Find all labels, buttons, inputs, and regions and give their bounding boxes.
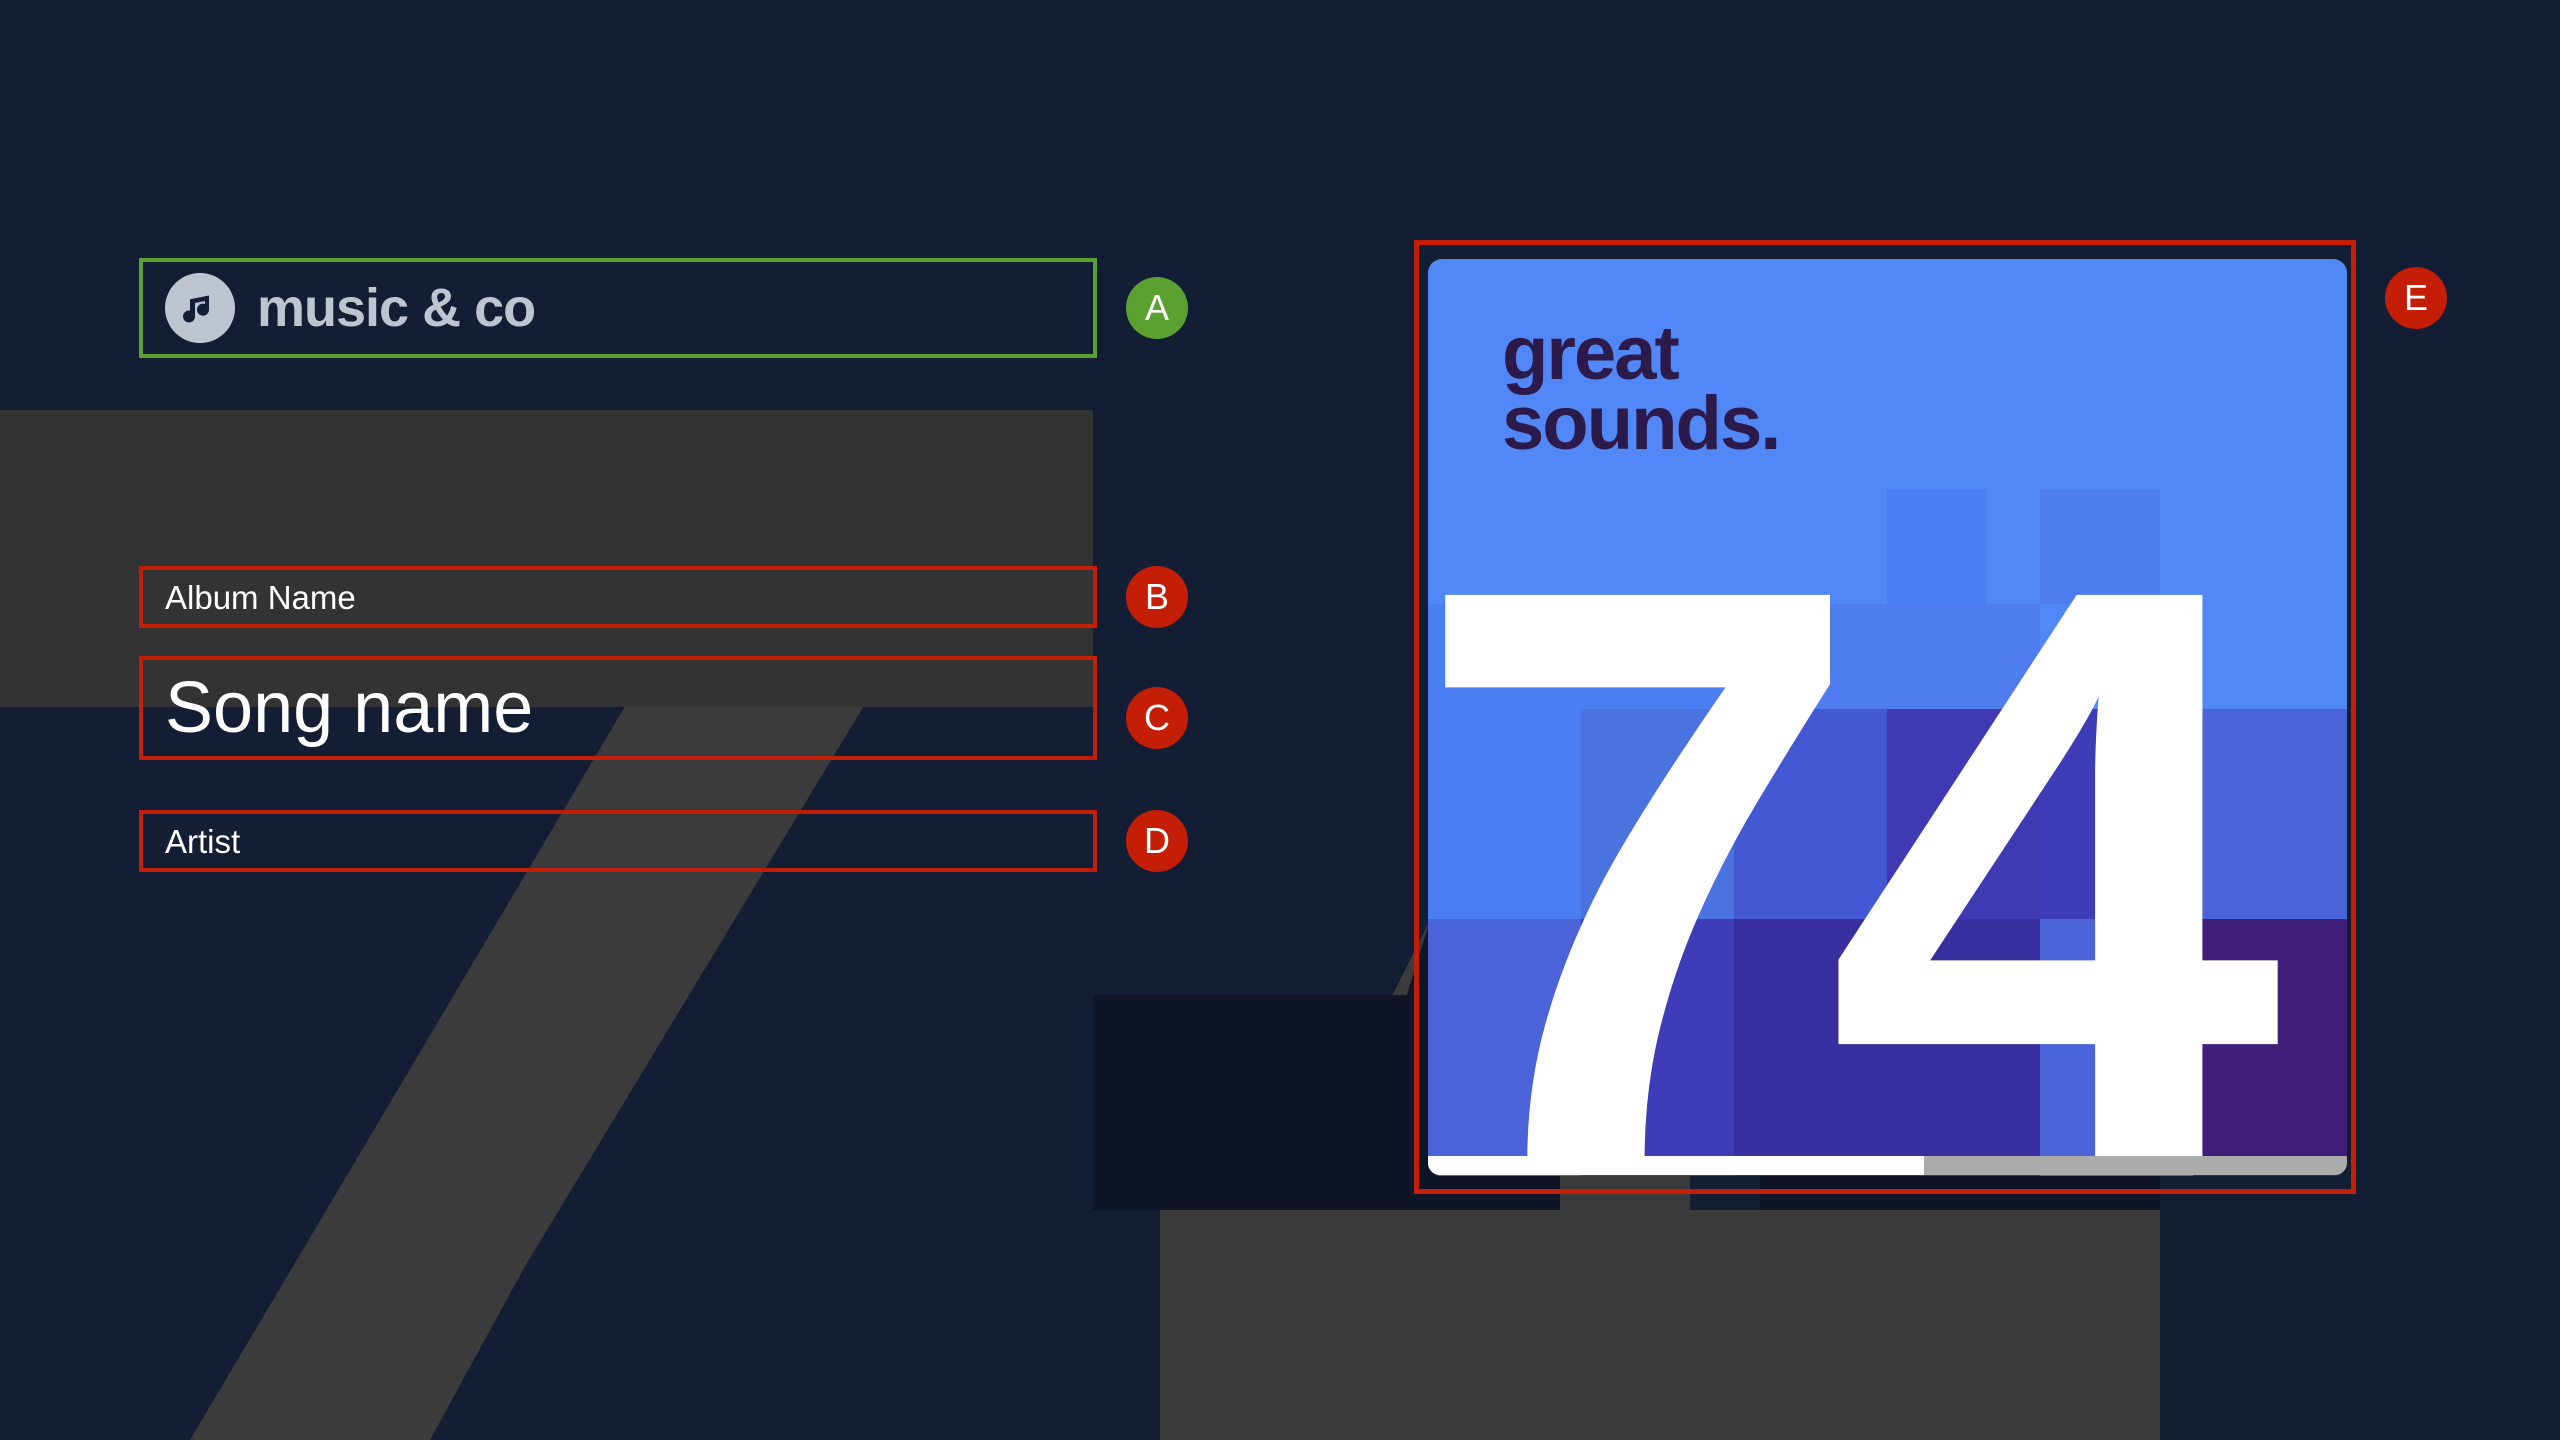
artist-box[interactable]: Artist bbox=[139, 810, 1097, 872]
music-note-circle-icon bbox=[165, 273, 235, 343]
song-name-box[interactable]: Song name bbox=[139, 656, 1097, 760]
annotation-badge-e: E bbox=[2385, 267, 2447, 329]
album-art-big-number: 74 bbox=[1428, 417, 2287, 1176]
album-name-label: Album Name bbox=[165, 581, 356, 614]
song-name-label: Song name bbox=[165, 672, 533, 744]
brand-logo-box[interactable]: music & co bbox=[139, 258, 1097, 358]
artist-label: Artist bbox=[165, 825, 240, 858]
brand-name-label: music & co bbox=[257, 281, 535, 335]
album-name-box[interactable]: Album Name bbox=[139, 566, 1097, 628]
annotation-badge-b: B bbox=[1126, 566, 1188, 628]
annotation-badge-c: C bbox=[1126, 687, 1188, 749]
annotation-badge-a: A bbox=[1126, 277, 1188, 339]
album-art-image[interactable]: great sounds. 74 bbox=[1428, 259, 2347, 1176]
now-playing-info-column: music & co Album Name Song name Artist bbox=[0, 0, 1280, 1440]
playback-progress-bar[interactable] bbox=[1428, 1156, 2347, 1175]
playback-progress-fill bbox=[1428, 1156, 1924, 1175]
annotation-badge-d: D bbox=[1126, 810, 1188, 872]
